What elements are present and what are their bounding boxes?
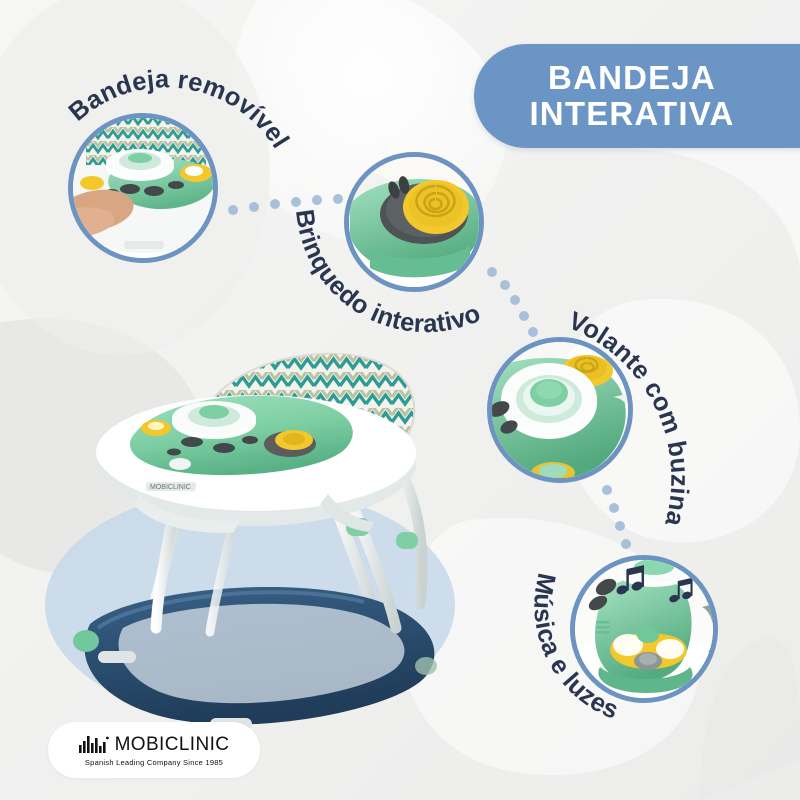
infographic-canvas: MOBICLINIC (0, 0, 800, 800)
feature-circle-bandeja-removivel[interactable] (68, 113, 218, 263)
title-banner: BANDEJA INTERATIVA (474, 44, 800, 148)
brand-tagline: Spanish Leading Company Since 1985 (85, 758, 223, 767)
product-image: MOBICLINIC (28, 336, 458, 728)
brand-name: MOBICLINIC (115, 734, 230, 756)
feature-circle-brinquedo-interativo[interactable] (344, 152, 484, 292)
title-line-1: BANDEJA (548, 60, 716, 96)
feature-circle-volante-com-buzina[interactable] (487, 337, 633, 483)
title-line-2: INTERATIVA (529, 96, 734, 132)
bar-chart-icon (79, 736, 109, 753)
svg-text:MOBICLINIC: MOBICLINIC (150, 484, 191, 491)
brand-logo: MOBICLINIC Spanish Leading Company Since… (48, 722, 260, 778)
feature-circle-musica-e-luzes[interactable] (570, 555, 718, 703)
